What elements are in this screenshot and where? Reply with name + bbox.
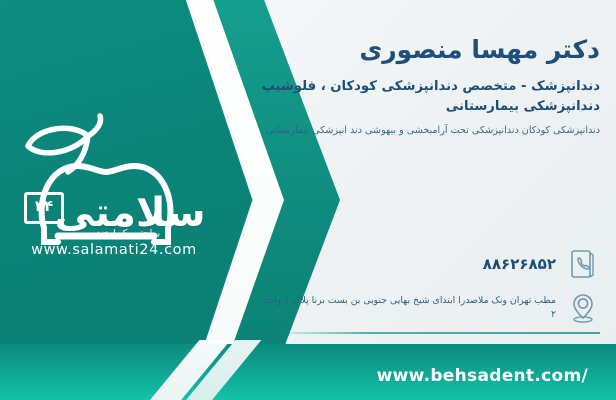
doctor-specialty: دندانپزشک - متخصص دندانپزشکی کودکان ، فل… [248, 77, 600, 116]
doctor-name: دکتر مهسا منصوری [248, 34, 600, 65]
phone-book-icon [566, 246, 600, 282]
divider-rule [270, 332, 600, 334]
map-pin-icon [566, 290, 600, 326]
card-content: دکتر مهسا منصوری دندانپزشک - متخصص دندان… [248, 34, 600, 139]
contact-block: ۸۸۶۲۶۸۵۲ مطب تهران ونک ملاصدرا ابتدای شی… [260, 246, 600, 334]
logo-24-badge: ۲۴ [24, 192, 64, 224]
address-text: مطب تهران ونک ملاصدرا ابتدای شیخ بهایی ج… [260, 294, 556, 323]
footer-website-url[interactable]: www.behsadent.com/ [377, 366, 588, 386]
logo-tagline: براحتی یک لبخند [96, 228, 160, 239]
business-card: سلامتی ۲۴ براحتی یک لبخند www.salamati24… [0, 0, 616, 400]
doctor-description: دندانپزشکی کودکان دندانپزشکی تحت آرامبخش… [248, 124, 600, 139]
phone-number: ۸۸۶۲۶۸۵۲ [260, 255, 556, 273]
phone-row[interactable]: ۸۸۶۲۶۸۵۲ [260, 246, 600, 282]
footer-bar: www.behsadent.com/ [0, 344, 616, 400]
logo-website-url: www.salamati24.com [14, 242, 214, 258]
address-row[interactable]: مطب تهران ونک ملاصدرا ابتدای شیخ بهایی ج… [260, 290, 600, 326]
